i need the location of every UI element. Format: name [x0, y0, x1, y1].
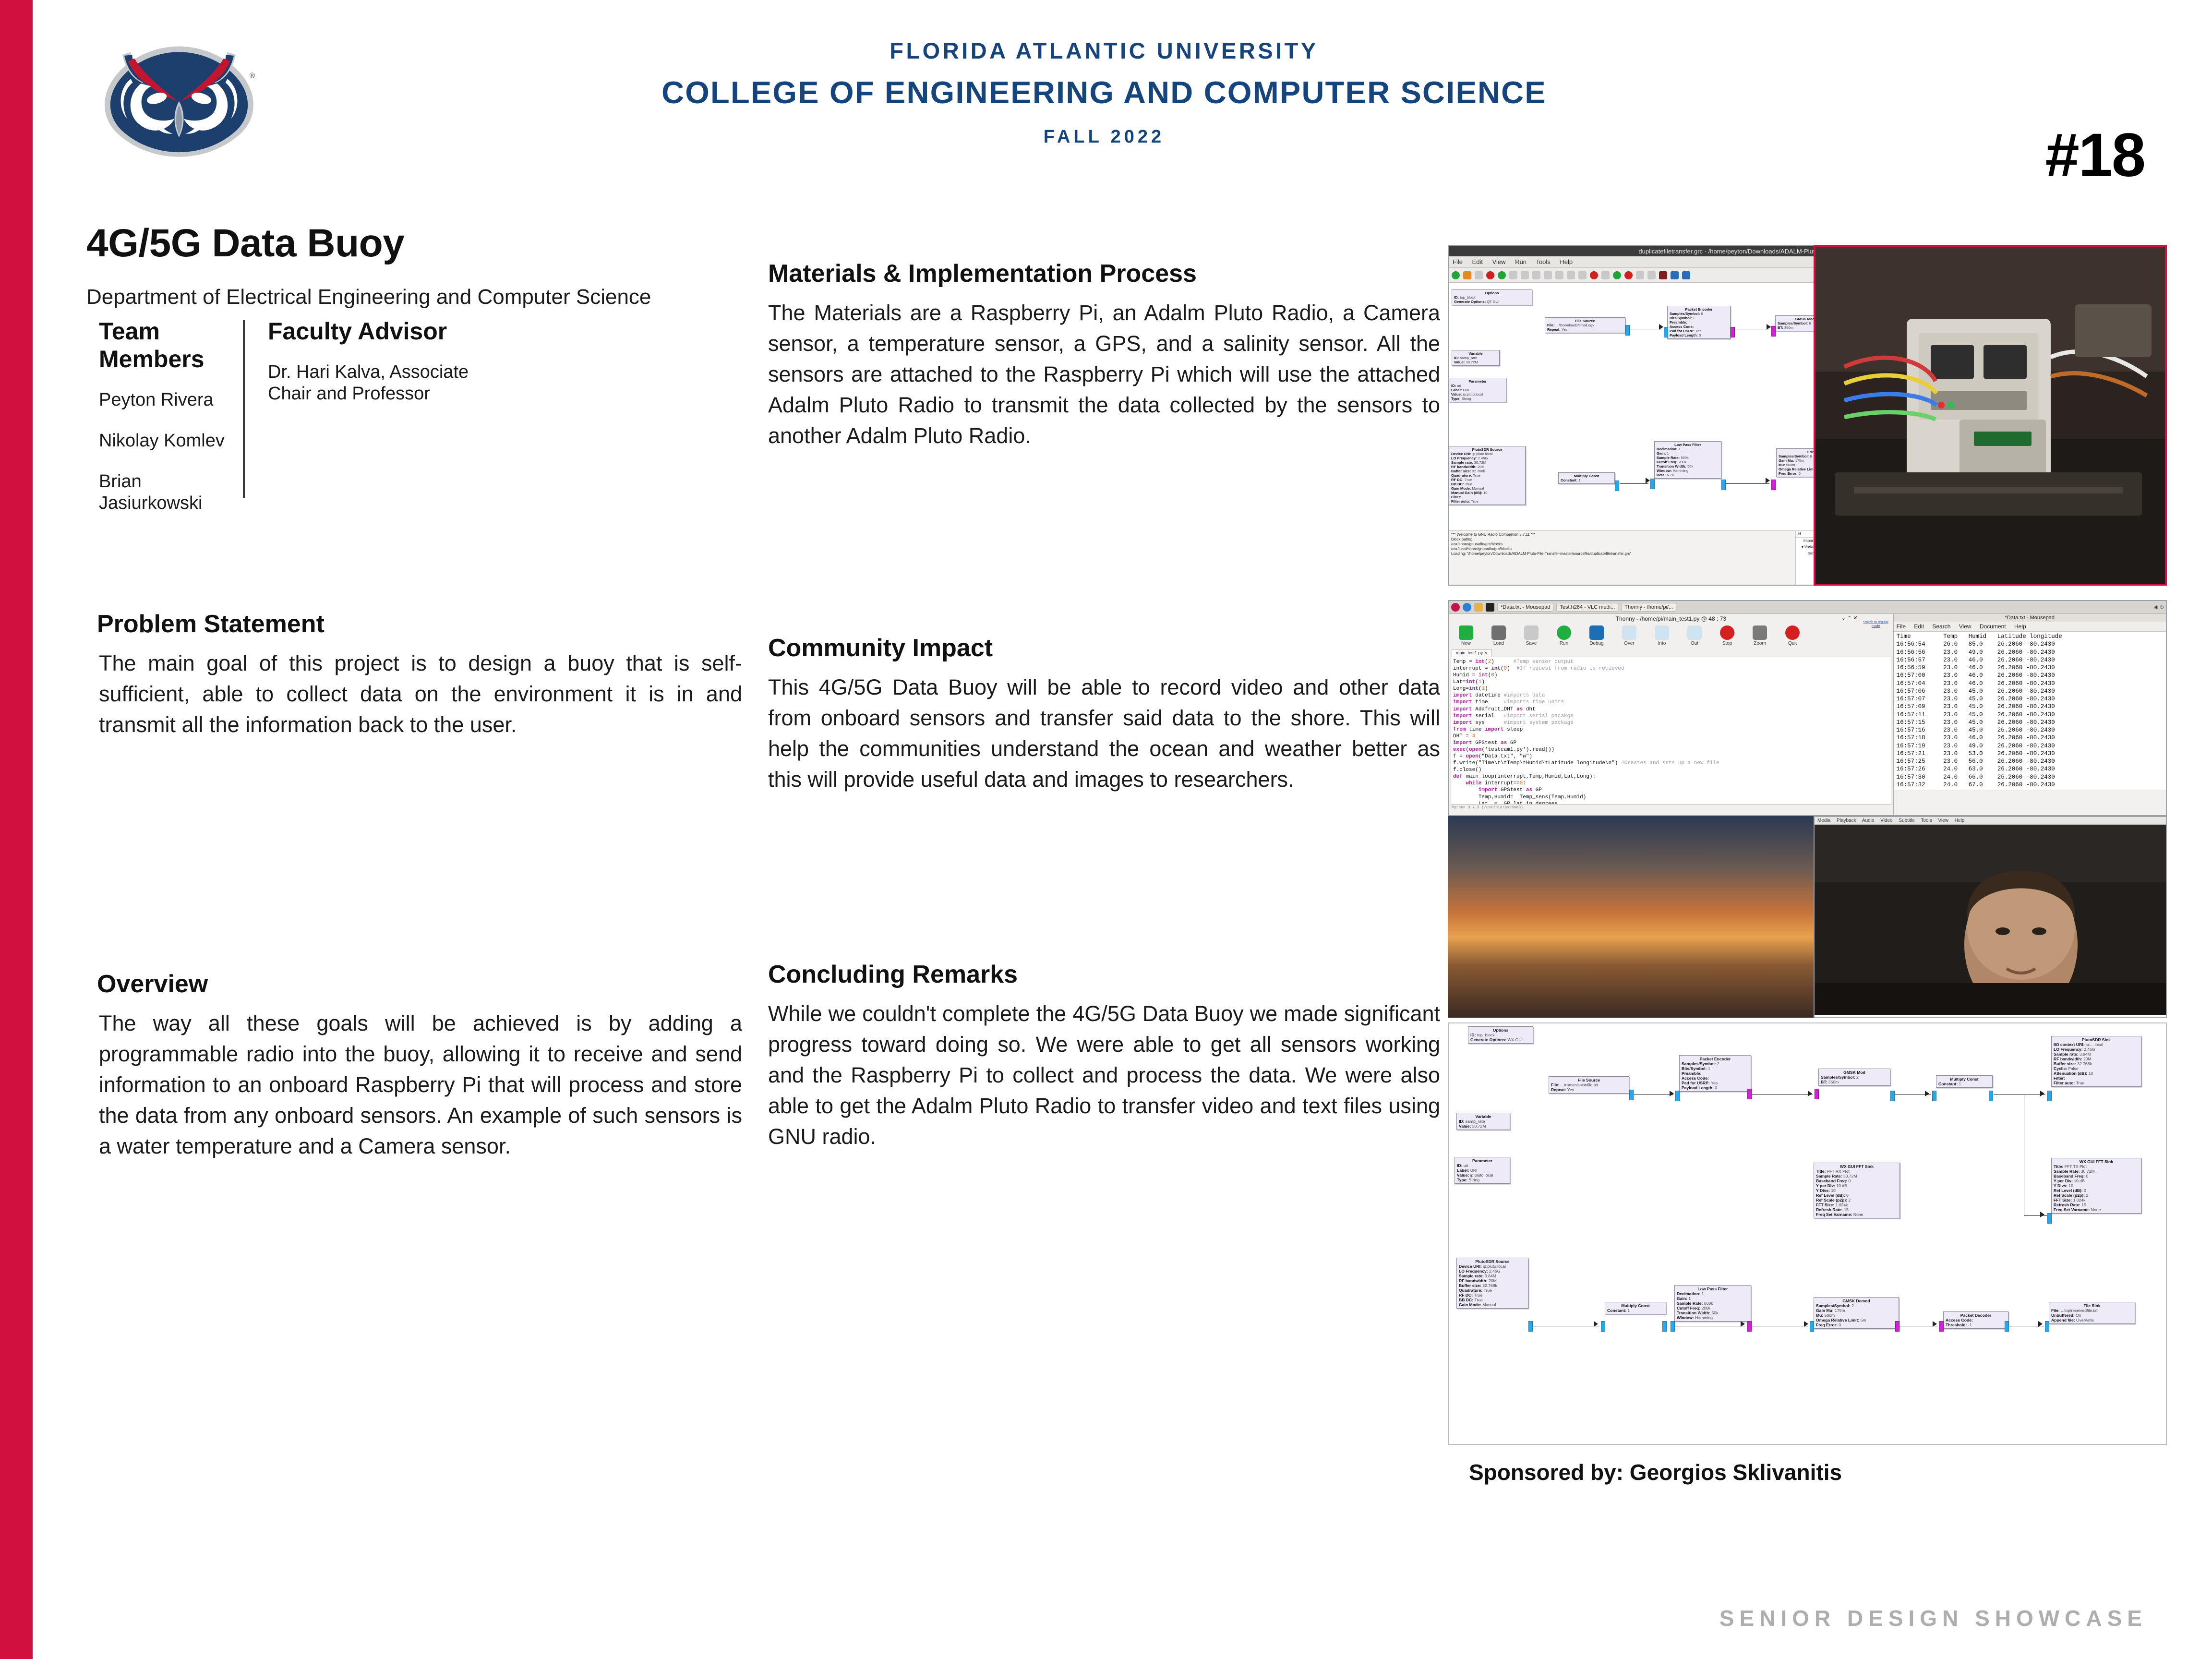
grc-wire: [1735, 329, 1769, 329]
people-divider: [243, 320, 245, 498]
console-line: /usr/local/share/gnuradio/grc/blocks: [1451, 547, 1793, 552]
block-param: BT: 350m: [1821, 1080, 1888, 1084]
block-param: Gain: 1: [1657, 451, 1719, 456]
wxgui-flowgraph-canvas[interactable]: OptionsID: top_blockGenerate Options: WX…: [1449, 1023, 2166, 1444]
grc-arrow: [1741, 1321, 1745, 1327]
block-param: FFT Size: 1.024k: [2054, 1198, 2139, 1202]
code-editor[interactable]: Temp = int(2) #Temp sensor outputinterru…: [1451, 657, 1891, 805]
taskbar-item-mousepad[interactable]: *Data.txt - Mousepad: [1497, 603, 1553, 612]
sensor-data-table: Time Temp Humid Latitude longitude16:56:…: [1894, 632, 2166, 790]
footer-showcase-label: SENIOR DESIGN SHOWCASE: [1719, 1605, 2147, 1631]
grc-port[interactable]: [2047, 1213, 2052, 1224]
block-param: Transition Width: 50k: [1657, 464, 1719, 469]
copy-icon[interactable]: [1532, 271, 1540, 279]
grc-block-plutosdr-source[interactable]: PlutoSDR SourceDevice URI: ip:pluto.loca…: [1456, 1258, 1528, 1309]
grc-block-wx-gui-fft-sink[interactable]: WX GUI FFT SinkTitle: FFT RX PlotSample …: [1814, 1163, 1900, 1218]
grc-port[interactable]: [1731, 327, 1735, 337]
grc-port[interactable]: [1615, 481, 1619, 491]
grc-wire: [1630, 329, 1662, 329]
block-param: Append file: Overwrite: [2051, 1318, 2133, 1322]
grc-block-plutosdr-sink[interactable]: PlutoSDR SinkIIO context URI: ip:....loc…: [2051, 1036, 2141, 1087]
college-name: COLLEGE OF ENGINEERING AND COMPUTER SCIE…: [576, 74, 1632, 110]
block-param: ID: top_block: [1454, 295, 1530, 300]
file-manager-icon[interactable]: [1474, 603, 1483, 612]
kill-icon[interactable]: [1624, 271, 1633, 279]
switch-to-regular-mode-link[interactable]: Switch to regular mode: [1861, 621, 1891, 629]
window-controls[interactable]: ⌄ ⌃ ✕: [1841, 615, 1858, 621]
console-line: *** Welcome to GNU Radio Companion 3.7.1…: [1451, 532, 1793, 537]
grc-block-parameter[interactable]: ParameterID: uriLabel: URIValue: ip:plut…: [1455, 1157, 1510, 1184]
block-param: ID: uri: [1451, 384, 1504, 388]
rotate-left-icon[interactable]: [1636, 271, 1644, 279]
block-param: BB DC: True: [1451, 482, 1523, 486]
code-line: from time import sleep: [1453, 726, 1889, 733]
thonny-button-debug[interactable]: Debug: [1584, 625, 1609, 646]
vlc-menubar[interactable]: Media Playback Audio Video Subtitle Tool…: [1815, 817, 2166, 825]
grc-block-gmsk-mod[interactable]: GMSK ModSamples/Symbol: 2BT: 350m: [1818, 1069, 1890, 1086]
thonny-button-zoom[interactable]: Zoom: [1747, 625, 1772, 646]
grc-console-output: *** Welcome to GNU Radio Companion 3.7.1…: [1449, 531, 1795, 585]
block-param: Bits/Symbol: 1: [1670, 316, 1728, 320]
block-param: File: ...top/receivedfile.txt: [2051, 1308, 2133, 1313]
mousepad-menu-edit[interactable]: Edit: [1914, 623, 1924, 630]
block-param: Constant: 1: [1561, 478, 1612, 482]
grc-block-variable[interactable]: VariableID: samp_rateValue: 30.72M: [1456, 1113, 1510, 1130]
mousepad-menubar[interactable]: File Edit Search View Document Help: [1894, 622, 2166, 632]
block-param: Cyclic: False: [2054, 1066, 2139, 1071]
block-param: Value: 30.72M: [1459, 1124, 1508, 1129]
block-param: Value: ip:pluto.local: [1457, 1173, 1508, 1178]
vlc-menu-playback[interactable]: Playback: [1837, 818, 1856, 823]
block-title: PlutoSDR Sink: [2054, 1037, 2139, 1042]
grc-block-gmsk-demod[interactable]: GMSK DemodSamples/Symbol: 2Gain Mu: 175m…: [1814, 1297, 1899, 1329]
grc-port[interactable]: [2047, 1091, 2052, 1101]
block-param: Unbuffered: On: [2051, 1313, 2133, 1318]
concluding-remarks-section: Concluding Remarks While we couldn't com…: [768, 960, 1440, 1152]
block-title: Variable: [1459, 1114, 1508, 1119]
grc-wire: [1667, 1326, 1668, 1326]
grc-wire: [1620, 483, 1648, 484]
block-title: PlutoSDR Source: [1451, 447, 1523, 452]
table-row: 16:57:07 23.0 45.0 26.2060 -80.2430: [1897, 695, 2163, 703]
block-title: Variable: [1454, 351, 1497, 356]
vlc-menu-media[interactable]: Media: [1817, 818, 1830, 823]
sponsor-label: Sponsored by: Georgios Sklivanitis: [1469, 1459, 1842, 1485]
mousepad-menu-document[interactable]: Document: [1980, 623, 2006, 630]
grc-port[interactable]: [1528, 1321, 1533, 1332]
raspberry-menu-icon[interactable]: [1451, 603, 1460, 612]
terminal-icon[interactable]: [1486, 603, 1494, 612]
block-param: Device URI: ip:pluto.local: [1459, 1264, 1526, 1269]
table-row: 16:57:04 23.0 46.0 26.2060 -80.2430: [1897, 680, 2163, 687]
grc-block-multiply-const[interactable]: Multiply ConstConstant: 1: [1605, 1302, 1666, 1314]
block-title: Options: [1454, 291, 1530, 295]
grc-block-options[interactable]: OptionsID: top_blockGenerate Options: QT…: [1452, 289, 1532, 305]
code-line: Long=int(1): [1453, 685, 1889, 692]
out-icon: [1687, 625, 1702, 640]
block-param: Y per Div: 10 dB: [2054, 1178, 2139, 1183]
block-param: Y Divs: 10: [2054, 1183, 2139, 1188]
block-title: Parameter: [1451, 379, 1504, 384]
code-line: Humid = int(0): [1453, 672, 1889, 679]
block-param: Samples/Symbol: 2: [1682, 1061, 1749, 1066]
grc-block-multiply-const[interactable]: Multiply ConstConstant: 1: [1936, 1075, 1993, 1088]
over-icon: [1622, 625, 1636, 640]
grc-block-options[interactable]: OptionsID: top_blockGenerate Options: WX…: [1468, 1026, 1533, 1044]
block-param: Decimation: 1: [1657, 447, 1719, 451]
grc-menu-edit[interactable]: Edit: [1472, 258, 1483, 265]
block-param: Ref Scale (p2p): 2: [1816, 1198, 1898, 1202]
advisor-column: Faculty Advisor Dr. Hari Kalva, Associat…: [268, 317, 479, 533]
block-param: Sample rate: 3.84M: [1459, 1274, 1526, 1278]
community-impact-section: Community Impact This 4G/5G Data Buoy wi…: [768, 634, 1440, 795]
code-line: f.close(): [1453, 767, 1889, 773]
grc-block-multiply-const[interactable]: Multiply ConstConstant: 1: [1558, 472, 1615, 484]
grc-port[interactable]: [1810, 1321, 1814, 1332]
grc-block-packet-encoder[interactable]: Packet EncoderSamples/Symbol: 6Bits/Symb…: [1667, 306, 1731, 339]
mousepad-menu-view[interactable]: View: [1959, 623, 1972, 630]
grc-block-file-source[interactable]: File SourceFile: .../Downloads/small.ogv…: [1545, 317, 1625, 333]
systray: ◉ ⏻: [2154, 605, 2164, 610]
code-line: f = open("Data.txt", "w"): [1453, 753, 1889, 760]
block-param: Title: FFT RX Plot: [1816, 1169, 1898, 1174]
grc-block-packet-encoder[interactable]: Packet EncoderSamples/Symbol: 2Bits/Symb…: [1679, 1055, 1751, 1092]
block-param: Manual Gain (dB): 10: [1451, 491, 1523, 495]
thonny-button-run[interactable]: Run: [1551, 625, 1576, 646]
grc-arrow: [1925, 1091, 1929, 1096]
grc-arrow: [1804, 1321, 1808, 1327]
block-param: FFT Size: 1.024k: [1816, 1202, 1898, 1207]
grc-block-low-pass-filter[interactable]: Low Pass FilterDecimation: 1Gain: 1Sampl…: [1654, 441, 1721, 479]
table-row: 16:56:54 26.0 85.0 26.2060 -80.2430: [1897, 640, 2163, 648]
table-row: 16:57:25 23.0 56.0 26.2060 -80.2430: [1897, 757, 2163, 765]
table-row: 16:57:09 23.0 45.0 26.2060 -80.2430: [1897, 703, 2163, 710]
block-title: PlutoSDR Source: [1459, 1259, 1526, 1264]
grc-block-variable[interactable]: VariableID: samp_rateValue: 30.72M: [1452, 350, 1500, 366]
button-label: Run: [1551, 641, 1576, 646]
problem-statement-section: Problem Statement The main goal of this …: [86, 610, 758, 740]
reload-icon[interactable]: [1682, 271, 1690, 279]
grc-port[interactable]: [1650, 479, 1655, 489]
grc-wire: [1994, 1094, 2045, 1095]
team-member-2: Nikolay Komlev: [99, 430, 243, 452]
block-title: Low Pass Filter: [1657, 443, 1719, 447]
block-title: GMSK Demod: [1816, 1298, 1897, 1303]
overview-heading: Overview: [97, 970, 758, 998]
grc-port[interactable]: [1895, 1321, 1899, 1332]
block-param: RF DC: True: [1459, 1293, 1526, 1298]
errors-icon[interactable]: [1590, 271, 1598, 279]
edit-icon[interactable]: [1498, 271, 1506, 279]
run-icon: [1557, 625, 1571, 640]
code-line: Temp,Humid= Temp_sens(Temp,Humid): [1453, 794, 1889, 801]
block-param: Generate Options: WX GUI: [1470, 1037, 1531, 1042]
block-param: Bits/Symbol: 1: [1682, 1066, 1749, 1071]
grc-port[interactable]: [1601, 1321, 1605, 1332]
table-row: 16:57:11 23.0 45.0 26.2060 -80.2430: [1897, 711, 2163, 719]
block-param: Threshold: -1: [1946, 1322, 2006, 1327]
enable-icon[interactable]: [1659, 271, 1667, 279]
grc-port[interactable]: [1625, 325, 1630, 336]
grc-block-file-sink[interactable]: File SinkFile: ...top/receivedfile.txtUn…: [2049, 1302, 2135, 1324]
block-param: Samples/Symbol: 2: [1821, 1075, 1888, 1080]
code-line: exec(open('testcam1.py').read()): [1453, 746, 1889, 753]
block-param: Freq Set Varname: None: [2054, 1207, 2139, 1212]
grc-port[interactable]: [1662, 1321, 1667, 1332]
block-param: Generate Options: QT GUI: [1454, 300, 1530, 304]
block-param: Value: ip:pluto.local: [1451, 392, 1504, 397]
execute-icon[interactable]: [1613, 271, 1621, 279]
thonny-button-save[interactable]: Save: [1519, 625, 1544, 646]
block-title: Low Pass Filter: [1677, 1286, 1749, 1291]
grc-arrow: [2040, 1212, 2044, 1217]
table-row: 16:57:06 23.0 45.0 26.2060 -80.2430: [1897, 687, 2163, 695]
block-param: Filter auto: True: [1451, 499, 1523, 504]
block-param: Filter:: [2054, 1076, 2139, 1081]
block-title: Packet Encoder: [1682, 1057, 1749, 1061]
block-param: Decimation: 1: [1677, 1291, 1749, 1296]
grc-wire: [1533, 1326, 1599, 1326]
delete-icon[interactable]: [1555, 271, 1563, 279]
block-param: Device URI: ip:pluto.local: [1451, 452, 1523, 456]
thonny-button-into[interactable]: Into: [1649, 625, 1674, 646]
mousepad-menu-file[interactable]: File: [1897, 623, 1906, 630]
block-title: Multiply Const: [1607, 1303, 1664, 1308]
mousepad-menu-search[interactable]: Search: [1932, 623, 1950, 630]
grc-port[interactable]: [1747, 1089, 1752, 1099]
block-param: Preamble:: [1682, 1071, 1749, 1076]
grc-block-packet-decoder[interactable]: Packet DecoderAccess Code: Threshold: -1: [1943, 1311, 2008, 1329]
block-param: Y Divs: 10: [1816, 1188, 1898, 1193]
thonny-button-load[interactable]: Load: [1486, 625, 1511, 646]
grc-port[interactable]: [1629, 1090, 1634, 1100]
grc-menu-tools[interactable]: Tools: [1536, 258, 1550, 265]
block-param: Attenuation (dB): 10: [2054, 1071, 2139, 1076]
block-param: Payload Length: 0: [1682, 1085, 1749, 1090]
table-row: 16:56:56 23.0 49.0 26.2060 -80.2430: [1897, 649, 2163, 656]
grc-block-file-source[interactable]: File SourceFile: ...transmissionfile.txt…: [1549, 1076, 1629, 1094]
vlc-video-panel: Media Playback Audio Video Subtitle Tool…: [1814, 816, 2167, 1018]
block-title: Options: [1470, 1028, 1531, 1033]
mousepad-data-window: *Data.txt - Mousepad File Edit Search Vi…: [1894, 614, 2166, 816]
save-icon[interactable]: [1475, 271, 1483, 279]
paste-icon[interactable]: [1544, 271, 1552, 279]
grc-port[interactable]: [2045, 1321, 2049, 1332]
grc-wire: [2024, 1094, 2024, 1215]
block-param: ID: samp_rate: [1454, 356, 1497, 360]
rotate-right-icon[interactable]: [1647, 271, 1656, 279]
grc-arrow: [2040, 1091, 2044, 1096]
thonny-button-stop[interactable]: Stop: [1715, 625, 1740, 646]
console-line: /usr/share/gnuradio/grc/blocks: [1451, 542, 1793, 547]
thonny-toolbar[interactable]: NewLoadSaveRunDebugOverIntoOutStopZoomQu…: [1449, 624, 1893, 647]
new-flowgraph-icon[interactable]: [1452, 271, 1460, 279]
block-param: Access Code:: [1682, 1076, 1749, 1081]
console-line: Loading: "/home/peyton/Downloads/ADALM-P…: [1451, 552, 1793, 556]
grc-port[interactable]: [1939, 1321, 1944, 1332]
code-line: import GPStest as GP: [1453, 787, 1889, 793]
block-param: Buffer size: 32.768k: [2054, 1061, 2139, 1066]
block-param: Constant: 1: [1938, 1082, 1990, 1086]
code-line: import sys #import system package: [1453, 720, 1889, 726]
grc-menu-help[interactable]: Help: [1560, 258, 1573, 265]
button-label: Zoom: [1747, 641, 1772, 646]
mousepad-menu-help[interactable]: Help: [2014, 623, 2026, 630]
zoom-icon[interactable]: [1671, 271, 1679, 279]
thonny-button-over[interactable]: Over: [1617, 625, 1642, 646]
problem-statement-heading: Problem Statement: [97, 610, 758, 638]
vlc-menu-tools[interactable]: Tools: [1921, 818, 1932, 823]
block-param: Gain Mode: Manual: [1451, 486, 1523, 491]
block-param: File: .../Downloads/small.ogv: [1547, 323, 1623, 327]
block-param: Repeat: Yes: [1551, 1087, 1627, 1092]
community-impact-heading: Community Impact: [768, 634, 1440, 662]
grc-block-plutosdr-source[interactable]: PlutoSDR SourceDevice URI: ip:pluto.loca…: [1449, 446, 1526, 505]
block-param: Omega Relative Limit: 5m: [1816, 1318, 1897, 1322]
grc-port[interactable]: [2005, 1321, 2009, 1332]
grc-menu-run[interactable]: Run: [1515, 258, 1527, 265]
grc-port[interactable]: [1664, 327, 1668, 337]
print-icon[interactable]: [1509, 271, 1517, 279]
redo-icon[interactable]: [1578, 271, 1587, 279]
taskbar-item-vlc[interactable]: Test.h264 - VLC medi...: [1556, 603, 1618, 612]
grc-menu-file[interactable]: File: [1453, 258, 1463, 265]
vlc-menu-view[interactable]: View: [1938, 818, 1949, 823]
thonny-button-new[interactable]: New: [1454, 625, 1479, 646]
button-label: Into: [1649, 641, 1674, 646]
block-param: ID: top_block: [1470, 1033, 1531, 1037]
button-label: Debug: [1584, 641, 1609, 646]
table-header-row: Time Temp Humid Latitude longitude: [1897, 633, 2163, 640]
grc-port[interactable]: [1815, 1089, 1819, 1099]
vlc-menu-audio[interactable]: Audio: [1862, 818, 1875, 823]
mousepad-title: *Data.txt - Mousepad: [1894, 614, 2166, 622]
block-param: Refresh Rate: 15: [1816, 1207, 1898, 1212]
block-param: Label: URI: [1457, 1168, 1508, 1173]
code-line: Temp = int(2) #Temp sensor output: [1453, 659, 1889, 665]
thonny-window: Thonny - /home/pi/main_test1.py @ 48 : 7…: [1449, 614, 1894, 816]
open-icon[interactable]: [1463, 271, 1471, 279]
code-line: Lat = GP.lat_in_degrees: [1453, 801, 1889, 805]
grc-menu-view[interactable]: View: [1492, 258, 1506, 265]
block-title: File Source: [1547, 319, 1623, 323]
code-line: import GPStest as GP: [1453, 740, 1889, 746]
table-row: 16:57:15 23.0 45.0 26.2060 -80.2430: [1897, 719, 2163, 726]
grc-port[interactable]: [1721, 480, 1726, 490]
block-param: Sample rate: 3.84M: [2054, 1052, 2139, 1057]
console-line: Block paths:: [1451, 537, 1793, 542]
grc-port[interactable]: [1671, 1321, 1675, 1332]
vlc-menu-help[interactable]: Help: [1955, 818, 1965, 823]
block-param: RF bandwidth: 20M: [1459, 1278, 1526, 1283]
grc-port[interactable]: [1932, 1091, 1936, 1101]
block-title: File Source: [1551, 1078, 1627, 1082]
block-param: Cutoff Freq: 200k: [1677, 1306, 1749, 1310]
block-param: Transition Width: 50k: [1677, 1310, 1749, 1315]
table-row: 16:57:16 23.0 45.0 26.2060 -80.2430: [1897, 726, 2163, 734]
grc-arrow: [1659, 324, 1663, 330]
grc-port[interactable]: [1989, 1091, 1993, 1101]
semester-label: FALL 2022: [576, 127, 1632, 147]
browser-icon[interactable]: [1463, 603, 1471, 612]
team-members-heading: Team Members: [99, 317, 243, 373]
block-param: LO Frequency: 2.45G: [1451, 456, 1523, 460]
block-param: LO Frequency: 2.45G: [2054, 1047, 2139, 1052]
left-red-stripe: [0, 0, 33, 1659]
grc-block-parameter[interactable]: ParameterID: uriLabel: URIValue: ip:plut…: [1449, 378, 1506, 402]
thonny-button-quit[interactable]: Quit: [1780, 625, 1805, 646]
overview-body: The way all these goals will be achieved…: [99, 1008, 742, 1161]
grc-port[interactable]: [1890, 1091, 1895, 1101]
table-row: 16:57:19 23.0 49.0 26.2060 -80.2430: [1897, 742, 2163, 750]
taskbar-item-thonny[interactable]: Thonny - /home/pi/...: [1621, 603, 1676, 612]
save-icon: [1524, 625, 1539, 640]
button-label: Save: [1519, 641, 1544, 646]
grc-block-low-pass-filter[interactable]: Low Pass FilterDecimation: 1Gain: 1Sampl…: [1674, 1285, 1751, 1322]
block-title: GMSK Mod: [1821, 1070, 1888, 1075]
vlc-menu-video[interactable]: Video: [1880, 818, 1892, 823]
code-line: def main_loop(interrupt,Temp,Humid,Lat,L…: [1453, 773, 1889, 780]
code-line: interrupt = int(0) #If request from radi…: [1453, 665, 1889, 672]
block-param: Freq Error: 0: [1816, 1322, 1897, 1327]
editor-file-tab[interactable]: main_test1.py ✕: [1452, 649, 1492, 657]
thonny-window-title: Thonny - /home/pi/main_test1.py @ 48 : 7…: [1449, 614, 1893, 624]
grc-wire: [1752, 1094, 1813, 1095]
thonny-button-out[interactable]: Out: [1682, 625, 1707, 646]
sunset-camera-capture: [1448, 816, 1814, 1018]
vlc-menu-subtitle[interactable]: Subtitle: [1899, 818, 1914, 823]
grc-port[interactable]: [1675, 1091, 1680, 1101]
fau-owl-logo: ®: [85, 28, 273, 167]
code-line: import time #imports time units: [1453, 699, 1889, 706]
button-label: Stop: [1715, 641, 1740, 646]
block-param: Buffer size: 32.768k: [1459, 1283, 1526, 1288]
webcam-face-frame: [1815, 825, 2166, 1015]
grc-port[interactable]: [1771, 326, 1776, 337]
page-title: 4G/5G Data Buoy: [86, 221, 754, 266]
block-param: Pad for USRP: Yes: [1670, 329, 1728, 333]
block-param: Window: Hamming: [1677, 1315, 1749, 1320]
block-param: Y per Div: 10 dB: [1816, 1183, 1898, 1188]
button-label: Quit: [1780, 641, 1805, 646]
grc-port[interactable]: [1771, 480, 1776, 490]
overview-section: Overview The way all these goals will be…: [86, 970, 758, 1161]
block-param: Quadrature: True: [1451, 473, 1523, 478]
department-label: Department of Electrical Engineering and…: [86, 285, 754, 309]
close-icon[interactable]: [1486, 271, 1494, 279]
into-icon: [1655, 625, 1669, 640]
generate-icon[interactable]: [1601, 271, 1610, 279]
block-param: Gain: 1: [1677, 1296, 1749, 1301]
grc-block-wx-gui-fft-sink[interactable]: WX GUI FFT SinkTitle: FFT TX PlotSample …: [2051, 1158, 2141, 1214]
code-line: while interrupt==0:: [1453, 780, 1889, 787]
grc-wire: [1634, 1094, 1673, 1095]
cut-icon[interactable]: [1521, 271, 1529, 279]
grc-port[interactable]: [1747, 1321, 1752, 1332]
table-row: 16:57:00 23.0 46.0 26.2060 -80.2430: [1897, 672, 2163, 679]
block-param: RF DC: True: [1451, 478, 1523, 482]
block-param: Freq Set Varname: None: [1816, 1212, 1898, 1217]
block-title: Packet Decoder: [1946, 1313, 2006, 1318]
button-label: Over: [1617, 641, 1642, 646]
button-label: Load: [1486, 641, 1511, 646]
team-members-column: Team Members Peyton Rivera Nikolay Komle…: [99, 317, 243, 533]
concluding-remarks-heading: Concluding Remarks: [768, 960, 1440, 989]
undo-icon[interactable]: [1567, 271, 1575, 279]
interpreter-label: Python 3.7.3 (/usr/bin/python3): [1449, 805, 1893, 811]
block-param: Beta: 6.76: [1657, 473, 1719, 477]
raspbian-taskbar[interactable]: *Data.txt - Mousepad Test.h264 - VLC med…: [1449, 601, 2166, 614]
